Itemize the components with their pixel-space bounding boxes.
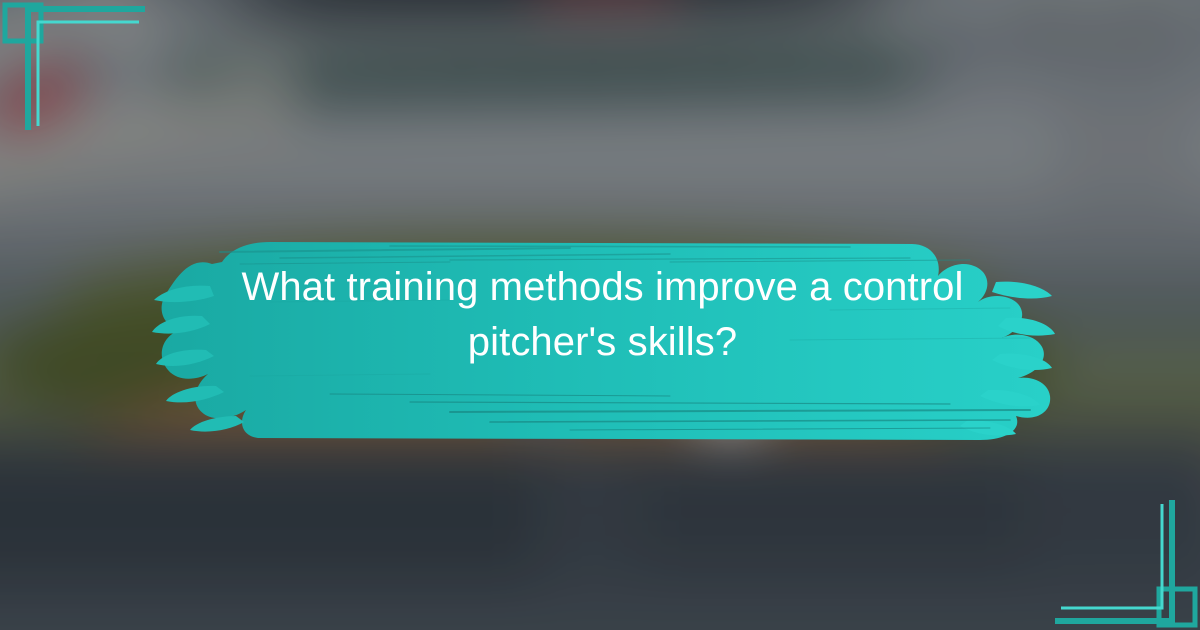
card-canvas: What training methods improve a control … [0,0,1200,630]
headline-text-block: What training methods improve a control … [150,190,1055,440]
headline-brush-banner: What training methods improve a control … [150,190,1055,440]
page-title: What training methods improve a control … [240,260,965,370]
